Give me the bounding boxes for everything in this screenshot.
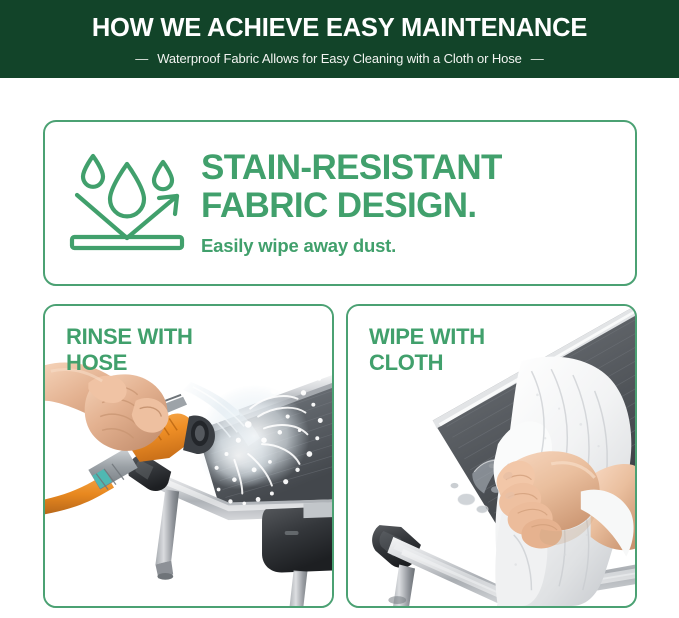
dash-right-icon: —: [531, 52, 544, 65]
cloth-wiping-cot-photo: [348, 306, 635, 606]
feature-panel: STAIN-RESISTANT FABRIC DESIGN. Easily wi…: [43, 120, 637, 286]
feature-headline-line1: STAIN-RESISTANT: [201, 149, 635, 186]
hose-spraying-cot-photo: [45, 306, 332, 606]
panel-wipe-with-cloth: WIPE WITH CLOTH: [346, 304, 637, 608]
panel-rinse-with-hose: RINSE WITH HOSE: [43, 304, 334, 608]
header-subtitle-row: — Waterproof Fabric Allows for Easy Clea…: [135, 51, 544, 66]
header-subtitle: Waterproof Fabric Allows for Easy Cleani…: [157, 51, 522, 66]
page-title: HOW WE ACHIEVE EASY MAINTENANCE: [92, 16, 587, 42]
feature-text-container: STAIN-RESISTANT FABRIC DESIGN. Easily wi…: [195, 149, 635, 256]
dash-left-icon: —: [135, 52, 148, 65]
water-repellent-fabric-icon: [67, 148, 191, 259]
feature-subline: Easily wipe away dust.: [201, 235, 635, 257]
header-band: HOW WE ACHIEVE EASY MAINTENANCE — Waterp…: [0, 0, 679, 78]
feature-headline-line2: FABRIC DESIGN.: [201, 187, 635, 224]
feature-icon-container: [45, 148, 195, 259]
infographic-page: HOW WE ACHIEVE EASY MAINTENANCE — Waterp…: [0, 0, 679, 618]
